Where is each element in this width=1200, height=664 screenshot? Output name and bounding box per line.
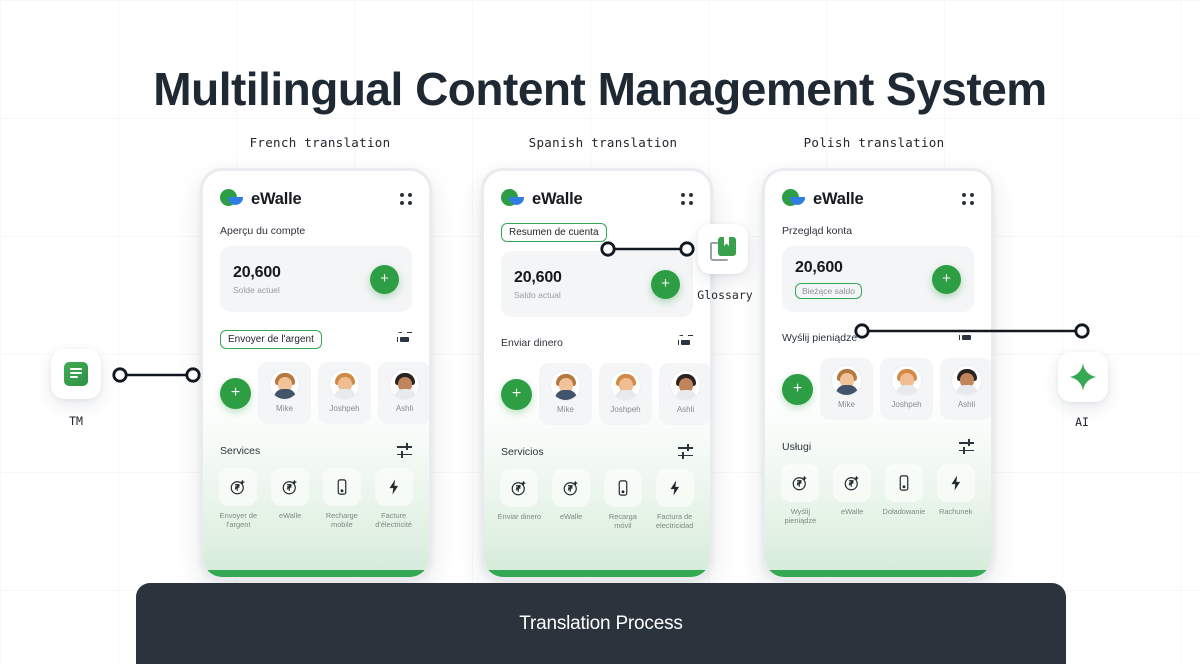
service-label: eWalle bbox=[560, 512, 582, 521]
services-header: Servicios bbox=[484, 425, 710, 458]
avatar bbox=[831, 365, 862, 396]
grid-dots-icon[interactable] bbox=[400, 193, 412, 205]
services-header: Usługi bbox=[765, 420, 991, 453]
add-funds-button[interactable]: + bbox=[370, 265, 399, 294]
phone-footer-bar bbox=[484, 570, 710, 577]
column-caption-polish: Polish translation bbox=[734, 135, 1014, 150]
add-contact-button[interactable]: + bbox=[501, 379, 532, 410]
node-label-ai: AI bbox=[1027, 415, 1137, 429]
service-label: Recharge mobile bbox=[320, 511, 365, 530]
contact-card[interactable]: Mike bbox=[258, 362, 311, 424]
service-item[interactable]: eWalle bbox=[549, 469, 594, 531]
node-glossary[interactable] bbox=[698, 224, 748, 274]
contact-name: Mike bbox=[557, 405, 574, 414]
avatar bbox=[610, 370, 641, 401]
send-money-label: Envoyer de l'argent bbox=[220, 330, 322, 349]
service-label: Envoyer de l'argent bbox=[216, 511, 261, 530]
account-overview-label: Aperçu du compte bbox=[203, 209, 429, 237]
service-item[interactable]: Wyślij pieniądze bbox=[778, 464, 823, 526]
contact-card[interactable]: Mike bbox=[539, 363, 592, 425]
node-label-tm: TM bbox=[21, 414, 131, 428]
service-item[interactable]: Facture d'électricité bbox=[371, 468, 416, 530]
contact-card[interactable]: Joshpeh bbox=[880, 358, 933, 420]
send-money-row: Enviar dinero bbox=[484, 317, 710, 350]
service-label: eWalle bbox=[279, 511, 301, 520]
phone-footer-bar bbox=[203, 570, 429, 577]
service-label: Facture d'électricité bbox=[371, 511, 416, 530]
page-title: Multilingual Content Management System bbox=[0, 62, 1200, 116]
service-label: Recarga móvil bbox=[601, 512, 646, 531]
banner-label: Translation Process bbox=[519, 613, 682, 635]
contact-name: Ashli bbox=[396, 404, 413, 413]
balance-card: 20,600 Bieżące saldo + bbox=[782, 246, 974, 312]
ewalle-logo-icon bbox=[501, 189, 525, 209]
contact-name: Joshpeh bbox=[610, 405, 640, 414]
contacts-row: + Mike Joshpeh Ashli bbox=[484, 350, 710, 425]
sliders-icon[interactable] bbox=[397, 444, 412, 457]
service-label: Enviar dinero bbox=[498, 512, 542, 521]
balance-card: 20,600 Solde actuel + bbox=[220, 246, 412, 312]
scan-icon[interactable] bbox=[397, 332, 412, 347]
contact-name: Mike bbox=[838, 400, 855, 409]
balance-amount: 20,600 bbox=[514, 269, 562, 287]
service-item[interactable]: Doładowanie bbox=[882, 464, 927, 526]
electricity-bill-icon bbox=[947, 474, 965, 492]
brand-name: eWalle bbox=[813, 190, 863, 209]
contact-card[interactable]: Ashli bbox=[940, 358, 993, 420]
app-header: eWalle bbox=[765, 171, 991, 209]
service-item[interactable]: eWalle bbox=[830, 464, 875, 526]
send-money-icon bbox=[791, 474, 809, 492]
ewalle-logo-icon bbox=[782, 189, 806, 209]
column-caption-spanish: Spanish translation bbox=[463, 135, 743, 150]
send-money-icon bbox=[510, 479, 528, 497]
contact-card[interactable]: Mike bbox=[820, 358, 873, 420]
send-money-row: Wyślij pieniądze bbox=[765, 312, 991, 345]
service-label: eWalle bbox=[841, 507, 863, 516]
services-grid: Enviar dinero eWalle Recarga móvil Factu… bbox=[484, 458, 710, 531]
scan-icon[interactable] bbox=[959, 330, 974, 345]
services-grid: Envoyer de l'argent eWalle Recharge mobi… bbox=[203, 457, 429, 530]
account-overview-label: Resumen de cuenta bbox=[501, 223, 607, 242]
add-contact-button[interactable]: + bbox=[220, 378, 251, 409]
service-label: Doładowanie bbox=[883, 507, 926, 516]
avatar bbox=[891, 365, 922, 396]
services-header: Services bbox=[203, 424, 429, 457]
service-item[interactable]: Enviar dinero bbox=[497, 469, 542, 531]
contacts-row: + Mike Joshpeh Ashli bbox=[203, 349, 429, 424]
avatar bbox=[670, 370, 701, 401]
avatar bbox=[269, 369, 300, 400]
translation-memory-icon bbox=[64, 362, 88, 386]
send-money-label: Enviar dinero bbox=[501, 337, 563, 349]
services-title: Usługi bbox=[782, 441, 811, 453]
phone-mockup-french: eWalle Aperçu du compte 20,600 Solde act… bbox=[200, 168, 432, 580]
contacts-row: + Mike Joshpeh Ashli bbox=[765, 345, 991, 420]
service-item[interactable]: eWalle bbox=[268, 468, 313, 530]
sliders-icon[interactable] bbox=[678, 445, 693, 458]
service-item[interactable]: Envoyer de l'argent bbox=[216, 468, 261, 530]
mobile-recharge-icon bbox=[333, 478, 351, 496]
add-contact-button[interactable]: + bbox=[782, 374, 813, 405]
wallet-icon bbox=[562, 479, 580, 497]
grid-dots-icon[interactable] bbox=[962, 193, 974, 205]
service-item[interactable]: Recharge mobile bbox=[320, 468, 365, 530]
service-label: Factura de electricidad bbox=[652, 512, 697, 531]
balance-amount: 20,600 bbox=[233, 264, 281, 282]
send-money-label: Wyślij pieniądze bbox=[782, 332, 857, 344]
contact-name: Ashli bbox=[677, 405, 694, 414]
balance-label: Bieżące saldo bbox=[795, 283, 862, 299]
service-label: Wyślij pieniądze bbox=[778, 507, 823, 526]
service-label: Rachunek bbox=[939, 507, 972, 516]
services-title: Services bbox=[220, 445, 260, 457]
sliders-icon[interactable] bbox=[959, 440, 974, 453]
avatar bbox=[389, 369, 420, 400]
brand: eWalle bbox=[501, 189, 582, 209]
service-item[interactable]: Factura de electricidad bbox=[652, 469, 697, 531]
service-item[interactable]: Recarga móvil bbox=[601, 469, 646, 531]
avatar bbox=[951, 365, 982, 396]
app-header: eWalle bbox=[484, 171, 710, 209]
column-caption-french: French translation bbox=[180, 135, 460, 150]
translation-process-banner: Translation Process bbox=[136, 583, 1066, 664]
electricity-bill-icon bbox=[385, 478, 403, 496]
brand: eWalle bbox=[220, 189, 301, 209]
send-money-row: Envoyer de l'argent bbox=[203, 312, 429, 349]
contact-card[interactable]: Ashli bbox=[659, 363, 712, 425]
brand-name: eWalle bbox=[251, 190, 301, 209]
brand: eWalle bbox=[782, 189, 863, 209]
grid-dots-icon[interactable] bbox=[681, 193, 693, 205]
mobile-recharge-icon bbox=[895, 474, 913, 492]
balance-label: Solde actuel bbox=[233, 285, 281, 295]
node-ai[interactable] bbox=[1058, 352, 1108, 402]
contact-name: Joshpeh bbox=[891, 400, 921, 409]
services-title: Servicios bbox=[501, 446, 544, 458]
electricity-bill-icon bbox=[666, 479, 684, 497]
ewalle-logo-icon bbox=[220, 189, 244, 209]
sparkle-icon bbox=[1068, 362, 1098, 392]
book-icon bbox=[710, 237, 736, 261]
wallet-icon bbox=[281, 478, 299, 496]
balance-label: Saldo actual bbox=[514, 290, 562, 300]
service-item[interactable]: Rachunek bbox=[933, 464, 978, 526]
avatar bbox=[550, 370, 581, 401]
send-money-icon bbox=[229, 478, 247, 496]
add-funds-button[interactable]: + bbox=[932, 265, 961, 294]
contact-card[interactable]: Joshpeh bbox=[318, 362, 371, 424]
avatar bbox=[329, 369, 360, 400]
app-header: eWalle bbox=[203, 171, 429, 209]
phone-mockup-spanish: eWalle Resumen de cuenta 20,600 Saldo ac… bbox=[481, 168, 713, 580]
contact-name: Mike bbox=[276, 404, 293, 413]
account-overview-label: Przegląd konta bbox=[765, 209, 991, 237]
mobile-recharge-icon bbox=[614, 479, 632, 497]
diagram-canvas: Multilingual Content Management System F… bbox=[0, 0, 1200, 664]
account-overview-row: Resumen de cuenta bbox=[484, 209, 710, 242]
contact-name: Joshpeh bbox=[329, 404, 359, 413]
contact-name: Ashli bbox=[958, 400, 975, 409]
contact-card[interactable]: Ashli bbox=[378, 362, 431, 424]
wallet-icon bbox=[843, 474, 861, 492]
node-label-glossary: Glossary bbox=[670, 288, 780, 302]
services-grid: Wyślij pieniądze eWalle Doładowanie Rach… bbox=[765, 453, 991, 526]
balance-amount: 20,600 bbox=[795, 259, 862, 277]
phone-mockup-polish: eWalle Przegląd konta 20,600 Bieżące sal… bbox=[762, 168, 994, 580]
node-translation-memory[interactable] bbox=[51, 349, 101, 399]
brand-name: eWalle bbox=[532, 190, 582, 209]
balance-card: 20,600 Saldo actual + bbox=[501, 251, 693, 317]
contact-card[interactable]: Joshpeh bbox=[599, 363, 652, 425]
phone-footer-bar bbox=[765, 570, 991, 577]
scan-icon[interactable] bbox=[678, 335, 693, 350]
